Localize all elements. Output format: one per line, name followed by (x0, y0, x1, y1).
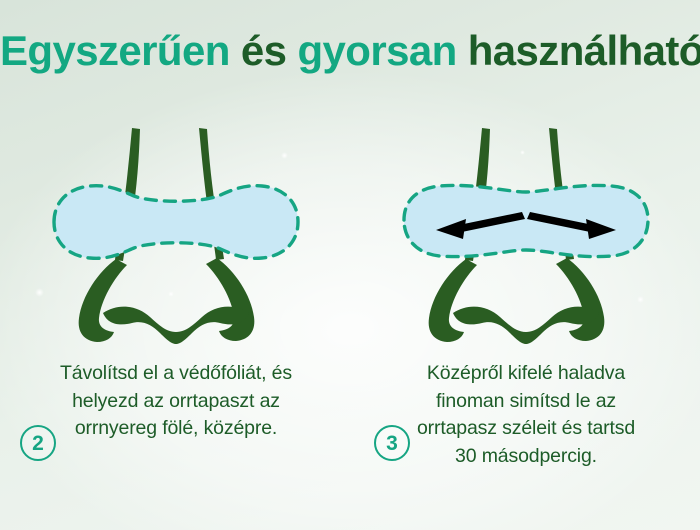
caption-line: helyezd az orrtapaszt az (14, 388, 338, 416)
nose-illustration-step3 (356, 120, 696, 345)
nose-illustration-step2 (6, 120, 346, 345)
step-panel-2: 2 Távolítsd el a védőfóliát, és helyezd … (6, 120, 346, 500)
page-title: Egyszerűen és gyorsan használható (0, 28, 700, 74)
nasal-strip-patch (54, 186, 298, 259)
caption-line: orrtapasz széleit és tartsd (364, 415, 688, 443)
caption-line: orrnyereg fölé, középre. (14, 415, 338, 443)
step-caption-3: Középről kifelé haladva finoman simítsd … (356, 360, 696, 471)
nasal-strip-patch (404, 185, 648, 256)
caption-line: 30 másodpercig. (364, 443, 688, 471)
title-word-1: Egyszerűen (0, 27, 230, 74)
step-panel-3: 3 Középről kifelé haladva finoman simíts… (356, 120, 696, 500)
step-caption-2: Távolítsd el a védőfóliát, és helyezd az… (6, 360, 346, 443)
caption-line: Középről kifelé haladva (364, 360, 688, 388)
caption-line: Távolítsd el a védőfóliát, és (14, 360, 338, 388)
title-word-2: és (241, 27, 287, 74)
title-word-4: használható (468, 27, 700, 74)
caption-line: finoman simítsd le az (364, 388, 688, 416)
title-word-3: gyorsan (297, 27, 456, 74)
instruction-graphic: Egyszerűen és gyorsan használható (0, 0, 700, 530)
